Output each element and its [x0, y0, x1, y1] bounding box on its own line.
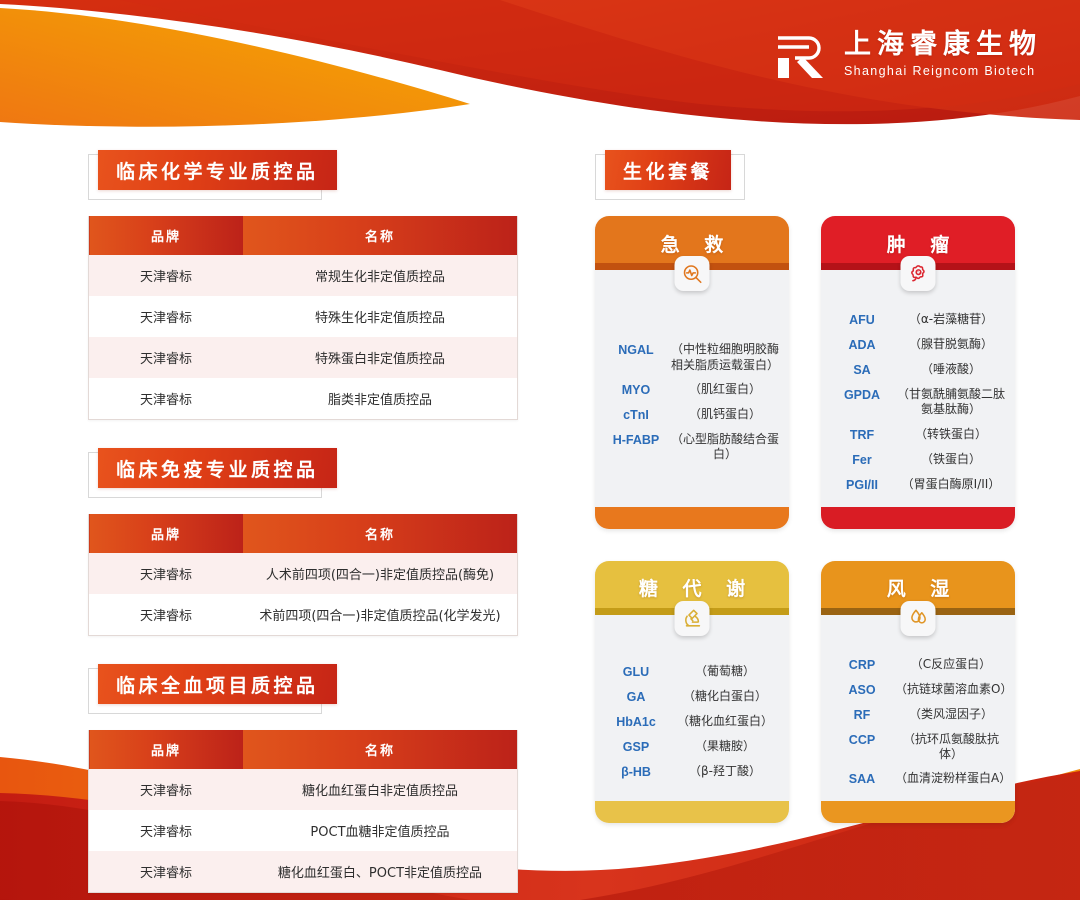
analyte-abbr: SA	[829, 362, 895, 378]
analyte-full-name: （抗环瓜氨酸肽抗体）	[895, 732, 1007, 763]
card-footer	[821, 507, 1015, 529]
analyte-item: RF（类风湿因子）	[829, 707, 1007, 723]
cell-name: 糖化血红蛋白、POCT非定值质控品	[243, 851, 518, 893]
microscope-icon	[675, 601, 710, 636]
column-header: 名称	[243, 216, 518, 255]
analyte-item: MYO（肌红蛋白）	[603, 382, 781, 398]
table-row: 天津睿标POCT血糖非定值质控品	[89, 810, 518, 851]
cell-brand: 天津睿标	[89, 296, 243, 337]
tumor-cell-icon	[901, 256, 936, 291]
section-title-label: 临床全血项目质控品	[98, 664, 337, 704]
analyte-full-name: （腺苷脱氨酶）	[895, 337, 1007, 352]
cell-brand: 天津睿标	[89, 810, 243, 851]
analyte-item: NGAL（中性粒细胞明胶酶相关脂质运载蛋白）	[603, 342, 781, 373]
analyte-full-name: （铁蛋白）	[895, 452, 1007, 467]
section-title-3: 临床全血项目质控品	[88, 662, 523, 724]
column-header: 品牌	[89, 216, 243, 255]
card-footer	[821, 801, 1015, 823]
section-title-label: 临床化学专业质控品	[98, 150, 337, 190]
analyte-full-name: （胃蛋白酶原I/II）	[895, 477, 1007, 492]
brand-logo: 上海睿康生物 Shanghai Reigncom Biotech	[773, 26, 1042, 82]
brand-name-cn: 上海睿康生物	[844, 31, 1042, 58]
cell-name: 糖化血红蛋白非定值质控品	[243, 769, 518, 810]
qc-table: 品牌名称天津睿标常规生化非定值质控品天津睿标特殊生化非定值质控品天津睿标特殊蛋白…	[88, 216, 518, 420]
analyte-item: β-HB（β-羟丁酸）	[603, 764, 781, 780]
analyte-full-name: （C反应蛋白）	[895, 657, 1007, 672]
analyte-abbr: HbA1c	[603, 714, 669, 730]
reigncom-r-logo-icon	[773, 26, 831, 82]
table-row: 天津睿标特殊蛋白非定值质控品	[89, 337, 518, 378]
analyte-abbr: GA	[603, 689, 669, 705]
analyte-abbr: TRF	[829, 427, 895, 443]
card-body: GLU（葡萄糖）GA（糖化白蛋白）HbA1c（糖化血红蛋白）GSP（果糖胺）β-…	[595, 615, 789, 802]
analyte-abbr: GPDA	[829, 387, 895, 403]
package-card-2[interactable]: 肿 瘤AFU（α-岩藻糖苷）ADA（腺苷脱氨酶）SA（唾液酸）GPDA（甘氨酰脯…	[821, 216, 1015, 529]
card-title: 急 救	[652, 230, 733, 257]
cell-brand: 天津睿标	[89, 769, 243, 810]
package-card-grid: 急 救NGAL（中性粒细胞明胶酶相关脂质运载蛋白）MYO（肌红蛋白）cTnI（肌…	[595, 216, 1015, 823]
analyte-full-name: （血清淀粉样蛋白A）	[895, 771, 1007, 786]
table-row: 天津睿标糖化血红蛋白、POCT非定值质控品	[89, 851, 518, 893]
cell-brand: 天津睿标	[89, 255, 243, 296]
cell-name: 特殊蛋白非定值质控品	[243, 337, 518, 378]
analyte-item: GSP（果糖胺）	[603, 739, 781, 755]
analyte-item: CCP（抗环瓜氨酸肽抗体）	[829, 732, 1007, 763]
package-card-3[interactable]: 糖 代 谢GLU（葡萄糖）GA（糖化白蛋白）HbA1c（糖化血红蛋白）GSP（果…	[595, 561, 789, 824]
section-title-1: 临床化学专业质控品	[88, 148, 523, 210]
column-header: 品牌	[89, 730, 243, 769]
analyte-abbr: MYO	[603, 382, 669, 398]
column-header: 名称	[243, 514, 518, 553]
analyte-abbr: NGAL	[603, 342, 669, 358]
qc-table: 品牌名称天津睿标人术前四项(四合一)非定值质控品(酶免)天津睿标术前四项(四合一…	[88, 514, 518, 636]
analyte-abbr: cTnI	[603, 407, 669, 423]
analyte-abbr: RF	[829, 707, 895, 723]
brand-name-en: Shanghai Reigncom Biotech	[844, 65, 1042, 78]
cell-brand: 天津睿标	[89, 594, 243, 636]
analyte-item: ADA（腺苷脱氨酶）	[829, 337, 1007, 353]
analyte-abbr: SAA	[829, 771, 895, 787]
card-title: 风 湿	[878, 574, 959, 601]
analyte-full-name: （转铁蛋白）	[895, 427, 1007, 442]
analyte-full-name: （中性粒细胞明胶酶相关脂质运载蛋白）	[669, 342, 781, 373]
analyte-full-name: （糖化血红蛋白）	[669, 714, 781, 729]
table-row: 天津睿标常规生化非定值质控品	[89, 255, 518, 296]
cell-name: POCT血糖非定值质控品	[243, 810, 518, 851]
analyte-abbr: CRP	[829, 657, 895, 673]
analyte-full-name: （果糖胺）	[669, 739, 781, 754]
analyte-abbr: CCP	[829, 732, 895, 748]
section-title-2: 临床免疫专业质控品	[88, 446, 523, 508]
section-title-biochem-package: 生化套餐	[595, 148, 1015, 210]
qc-section: 临床免疫专业质控品品牌名称天津睿标人术前四项(四合一)非定值质控品(酶免)天津睿…	[88, 446, 523, 636]
analyte-full-name: （葡萄糖）	[669, 664, 781, 679]
column-header: 名称	[243, 730, 518, 769]
analyte-full-name: （α-岩藻糖苷）	[895, 312, 1007, 327]
column-header: 品牌	[89, 514, 243, 553]
analyte-full-name: （唾液酸）	[895, 362, 1007, 377]
card-footer	[595, 801, 789, 823]
cell-name: 脂类非定值质控品	[243, 378, 518, 420]
analyte-item: H-FABP（心型脂肪酸结合蛋白）	[603, 432, 781, 463]
analyte-item: cTnI（肌钙蛋白）	[603, 407, 781, 423]
pulse-magnifier-icon	[675, 256, 710, 291]
card-title: 糖 代 谢	[630, 574, 754, 601]
card-body: AFU（α-岩藻糖苷）ADA（腺苷脱氨酶）SA（唾液酸）GPDA（甘氨酰脯氨酸二…	[821, 270, 1015, 507]
qc-section: 临床化学专业质控品品牌名称天津睿标常规生化非定值质控品天津睿标特殊生化非定值质控…	[88, 148, 523, 420]
table-header-row: 品牌名称	[89, 514, 518, 553]
cell-name: 特殊生化非定值质控品	[243, 296, 518, 337]
analyte-item: GLU（葡萄糖）	[603, 664, 781, 680]
package-card-1[interactable]: 急 救NGAL（中性粒细胞明胶酶相关脂质运载蛋白）MYO（肌红蛋白）cTnI（肌…	[595, 216, 789, 529]
analyte-item: AFU（α-岩藻糖苷）	[829, 312, 1007, 328]
card-body: CRP（C反应蛋白）ASO（抗链球菌溶血素O）RF（类风湿因子）CCP（抗环瓜氨…	[821, 615, 1015, 802]
table-row: 天津睿标人术前四项(四合一)非定值质控品(酶免)	[89, 553, 518, 594]
analyte-full-name: （类风湿因子）	[895, 707, 1007, 722]
qc-section: 临床全血项目质控品品牌名称天津睿标糖化血红蛋白非定值质控品天津睿标POCT血糖非…	[88, 662, 523, 893]
analyte-item: GA（糖化白蛋白）	[603, 689, 781, 705]
analyte-full-name: （心型脂肪酸结合蛋白）	[669, 432, 781, 463]
analyte-abbr: β-HB	[603, 764, 669, 780]
section-title-label: 临床免疫专业质控品	[98, 448, 337, 488]
analyte-abbr: ADA	[829, 337, 895, 353]
analyte-item: HbA1c（糖化血红蛋白）	[603, 714, 781, 730]
cell-brand: 天津睿标	[89, 337, 243, 378]
card-title: 肿 瘤	[878, 230, 959, 257]
cell-brand: 天津睿标	[89, 553, 243, 594]
table-row: 天津睿标术前四项(四合一)非定值质控品(化学发光)	[89, 594, 518, 636]
analyte-abbr: Fer	[829, 452, 895, 468]
analyte-abbr: GLU	[603, 664, 669, 680]
analyte-item: PGI/II（胃蛋白酶原I/II）	[829, 477, 1007, 493]
qc-table: 品牌名称天津睿标糖化血红蛋白非定值质控品天津睿标POCT血糖非定值质控品天津睿标…	[88, 730, 518, 893]
analyte-item: TRF（转铁蛋白）	[829, 427, 1007, 443]
analyte-full-name: （β-羟丁酸）	[669, 764, 781, 779]
analyte-item: GPDA（甘氨酰脯氨酸二肽氨基肽酶）	[829, 387, 1007, 418]
analyte-item: SA（唾液酸）	[829, 362, 1007, 378]
droplets-icon	[901, 601, 936, 636]
table-header-row: 品牌名称	[89, 216, 518, 255]
analyte-full-name: （糖化白蛋白）	[669, 689, 781, 704]
analyte-item: CRP（C反应蛋白）	[829, 657, 1007, 673]
analyte-abbr: PGI/II	[829, 477, 895, 493]
analyte-full-name: （甘氨酰脯氨酸二肽氨基肽酶）	[895, 387, 1007, 418]
table-row: 天津睿标脂类非定值质控品	[89, 378, 518, 420]
analyte-item: Fer（铁蛋白）	[829, 452, 1007, 468]
analyte-full-name: （抗链球菌溶血素O）	[895, 682, 1007, 697]
left-column: 临床化学专业质控品品牌名称天津睿标常规生化非定值质控品天津睿标特殊生化非定值质控…	[88, 148, 523, 900]
table-row: 天津睿标特殊生化非定值质控品	[89, 296, 518, 337]
poster-page: 上海睿康生物 Shanghai Reigncom Biotech 临床化学专业质…	[0, 0, 1080, 900]
analyte-abbr: ASO	[829, 682, 895, 698]
cell-brand: 天津睿标	[89, 851, 243, 893]
analyte-abbr: AFU	[829, 312, 895, 328]
analyte-item: ASO（抗链球菌溶血素O）	[829, 682, 1007, 698]
analyte-abbr: GSP	[603, 739, 669, 755]
cell-name: 术前四项(四合一)非定值质控品(化学发光)	[243, 594, 518, 636]
right-column: 生化套餐 急 救NGAL（中性粒细胞明胶酶相关脂质运载蛋白）MYO（肌红蛋白）c…	[595, 148, 1015, 823]
table-header-row: 品牌名称	[89, 730, 518, 769]
cell-brand: 天津睿标	[89, 378, 243, 420]
cell-name: 常规生化非定值质控品	[243, 255, 518, 296]
section-title-label: 生化套餐	[605, 150, 731, 190]
analyte-full-name: （肌钙蛋白）	[669, 407, 781, 422]
analyte-full-name: （肌红蛋白）	[669, 382, 781, 397]
card-footer	[595, 507, 789, 529]
table-row: 天津睿标糖化血红蛋白非定值质控品	[89, 769, 518, 810]
cell-name: 人术前四项(四合一)非定值质控品(酶免)	[243, 553, 518, 594]
package-card-4[interactable]: 风 湿CRP（C反应蛋白）ASO（抗链球菌溶血素O）RF（类风湿因子）CCP（抗…	[821, 561, 1015, 824]
analyte-item: SAA（血清淀粉样蛋白A）	[829, 771, 1007, 787]
card-body: NGAL（中性粒细胞明胶酶相关脂质运载蛋白）MYO（肌红蛋白）cTnI（肌钙蛋白…	[595, 270, 789, 507]
analyte-abbr: H-FABP	[603, 432, 669, 448]
